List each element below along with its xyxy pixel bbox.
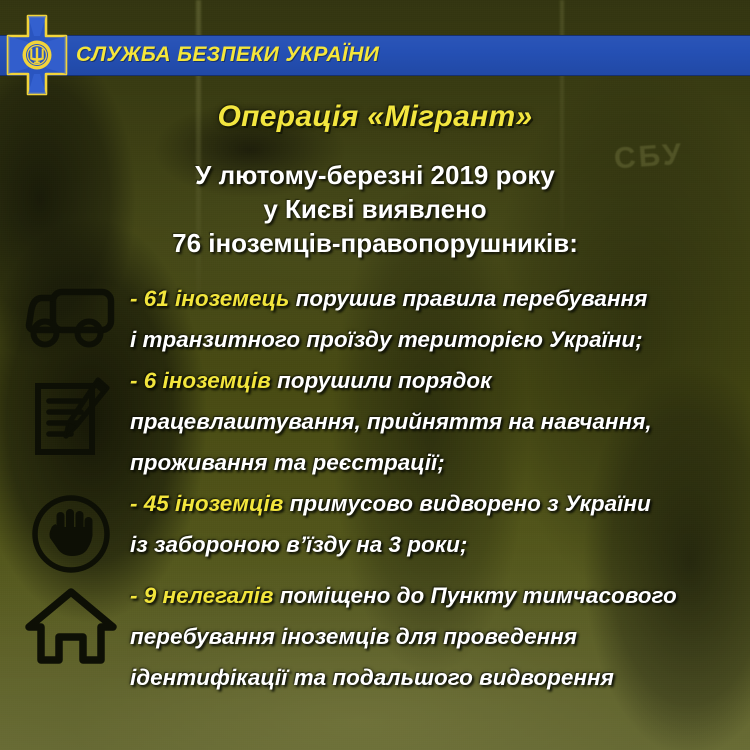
stat-text: поміщено до Пункту тимчасового	[273, 583, 676, 608]
stat-text: перебування іноземців для проведення	[130, 624, 577, 649]
list-item: - 9 нелегалів поміщено до Пункту тимчасо…	[0, 575, 750, 698]
document-pencil-icon	[28, 374, 114, 458]
list-item-line: ідентифікації та подальшого видворення	[130, 657, 746, 698]
stop-hand-icon	[30, 493, 112, 575]
text-cell: - 45 іноземців примусово видворено з Укр…	[130, 483, 750, 565]
subtitle-line-1: У лютому-березні 2019 року	[0, 158, 750, 192]
truck-icon	[25, 284, 117, 350]
stat-highlight: - 6 іноземців	[130, 368, 271, 393]
house-icon	[23, 587, 119, 667]
list-item: - 45 іноземців примусово видворено з Укр…	[0, 483, 750, 575]
organization-title: СЛУЖБА БЕЗПЕКИ УКРАЇНИ	[76, 43, 379, 67]
list-item: - 6 іноземців порушили порядок працевлаш…	[0, 360, 750, 483]
stat-text: порушили порядок	[271, 368, 492, 393]
icon-cell	[12, 483, 130, 575]
stat-text: працевлаштування, прийняття на навчання,	[130, 409, 652, 434]
icon-cell	[12, 278, 130, 350]
sbu-cross-trident-emblem	[6, 14, 68, 96]
text-cell: - 9 нелегалів поміщено до Пункту тимчасо…	[130, 575, 750, 698]
stat-highlight: - 61 іноземець	[130, 286, 289, 311]
stat-highlight: - 9 нелегалів	[130, 583, 273, 608]
stat-text: порушив правила перебування	[289, 286, 647, 311]
list-item-line: проживання та реєстрації;	[130, 442, 746, 483]
infographic-poster: СБУ СЛУЖБА БЕЗПЕКИ УКРАЇ	[0, 0, 750, 750]
list-item: - 61 іноземець порушив правила перебуван…	[0, 278, 750, 360]
stat-highlight: - 45 іноземців	[130, 491, 283, 516]
text-cell: - 6 іноземців порушили порядок працевлаш…	[130, 360, 750, 483]
operation-title: Операція «Мігрант»	[0, 100, 750, 134]
stat-text: і транзитного проїзду територією України…	[130, 327, 643, 352]
list-item-line: - 45 іноземців примусово видворено з Укр…	[130, 483, 746, 524]
subtitle: У лютому-березні 2019 року у Києві виявл…	[0, 158, 750, 260]
text-cell: - 61 іноземець порушив правила перебуван…	[130, 278, 750, 360]
list-item-line: і транзитного проїзду територією України…	[130, 319, 746, 360]
stat-text: проживання та реєстрації;	[130, 450, 445, 475]
stat-text: примусово видворено з України	[283, 491, 650, 516]
subtitle-line-3: 76 іноземців-правопорушників:	[0, 226, 750, 260]
list-item-line: перебування іноземців для проведення	[130, 616, 746, 657]
stat-text: із забороною в’їзду на 3 роки;	[130, 532, 467, 557]
stat-text: ідентифікації та подальшого видворення	[130, 665, 614, 690]
list-item-line: - 6 іноземців порушили порядок	[130, 360, 746, 401]
list-item-line: із забороною в’їзду на 3 роки;	[130, 524, 746, 565]
subtitle-line-2: у Києві виявлено	[0, 192, 750, 226]
icon-cell	[12, 575, 130, 667]
list-item-line: - 9 нелегалів поміщено до Пункту тимчасо…	[130, 575, 746, 616]
statistics-list: - 61 іноземець порушив правила перебуван…	[0, 278, 750, 698]
list-item-line: - 61 іноземець порушив правила перебуван…	[130, 278, 746, 319]
list-item-line: працевлаштування, прийняття на навчання,	[130, 401, 746, 442]
icon-cell	[12, 360, 130, 458]
